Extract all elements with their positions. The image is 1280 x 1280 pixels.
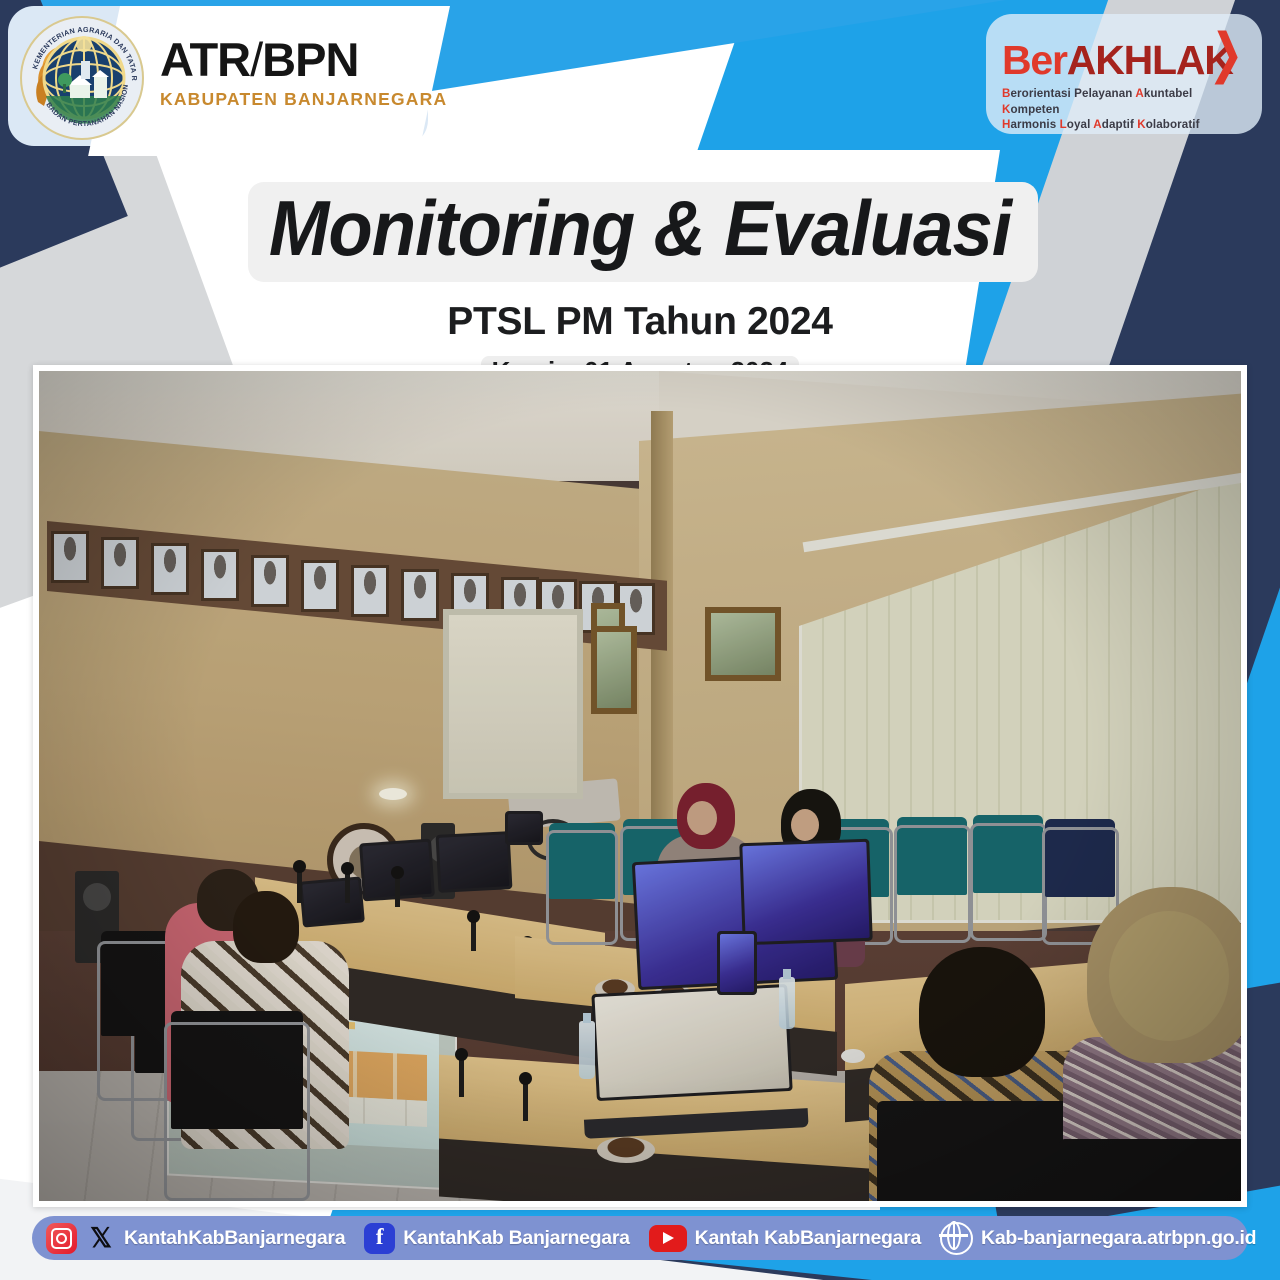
value-text-harmonis: armonis — [1010, 118, 1059, 131]
website-globe-icon[interactable] — [940, 1222, 973, 1255]
value-text-kompeten: ompeten — [1010, 103, 1059, 116]
desk-monitor-small — [505, 811, 543, 845]
wall-portrait — [251, 555, 289, 607]
x-twitter-icon[interactable]: 𝕏 — [86, 1223, 116, 1253]
atr-bpn-globe-emblem-icon: KEMENTERIAN AGRARIA DAN TATA RUANG BADAN… — [18, 14, 146, 142]
wall-portrait — [51, 531, 89, 583]
berakhlak-akhlak: AKHLAK — [1067, 37, 1233, 83]
agency-abbr-atr: ATR — [160, 33, 250, 86]
wall-portrait — [351, 565, 389, 617]
wall-portrait — [201, 549, 239, 601]
facebook-icon[interactable]: f — [364, 1223, 395, 1254]
value-text-kolaboratif: olaboratif — [1146, 118, 1200, 131]
poster-canvas: KEMENTERIAN AGRARIA DAN TATA RUANG BADAN… — [0, 0, 1280, 1280]
agency-abbr-bpn: BPN — [262, 33, 358, 86]
youtube-icon[interactable] — [649, 1225, 687, 1252]
page-subtitle: PTSL PM Tahun 2024 — [0, 300, 1280, 344]
desk-monitor-blue-2 — [739, 839, 872, 945]
value-text-loyal: oyal — [1067, 118, 1094, 131]
value-initial-l: L — [1060, 118, 1067, 131]
page-title: Monitoring & Evaluasi — [45, 186, 1235, 272]
value-text-adaptif: daptif — [1102, 118, 1137, 131]
desk-microphone-3 — [395, 875, 400, 907]
desk-microphone-4 — [471, 919, 476, 951]
value-initial-a2: A — [1093, 118, 1101, 131]
ceiling-light-icon — [379, 788, 407, 800]
water-bottle-2 — [579, 1021, 595, 1079]
x-handle: KantahKabBanjarnegara — [124, 1227, 345, 1250]
coffee-cup-3 — [597, 1137, 655, 1163]
agency-abbr-slash: / — [250, 33, 262, 86]
chair-left-3 — [171, 1011, 303, 1201]
desk-monitor-blue-3 — [717, 931, 757, 995]
wall-portrait — [151, 543, 189, 595]
value-initial-a: A — [1135, 87, 1143, 100]
value-text-berorientasi: erorientasi Pelayanan — [1010, 87, 1135, 100]
desk-microphone-6 — [459, 1057, 464, 1097]
chair-teal-4 — [897, 817, 967, 943]
wall-panel-board — [443, 609, 583, 799]
value-initial-k2: K — [1137, 118, 1145, 131]
chair-teal-1 — [549, 823, 615, 945]
website-url: Kab-banjarnegara.atrbpn.go.id — [981, 1227, 1256, 1250]
social-media-bar: 𝕏 KantahKabBanjarnegara f KantahKab Banj… — [32, 1216, 1248, 1260]
berakhlak-values-line2: Harmonis Loyal Adaptif Kolaboratif — [1002, 117, 1252, 133]
social-website[interactable]: Kab-banjarnegara.atrbpn.go.id — [940, 1222, 1256, 1255]
youtube-handle: Kantah KabBanjarnegara — [695, 1227, 921, 1250]
desk-monitor-2 — [436, 831, 513, 893]
wall-frame-tall — [591, 626, 637, 714]
event-photo — [39, 371, 1241, 1201]
chair-foreground-2 — [1059, 1139, 1241, 1201]
laptop-foreground — [591, 984, 794, 1138]
social-x[interactable]: 𝕏 KantahKabBanjarnegara — [86, 1223, 345, 1253]
event-photo-frame — [33, 365, 1247, 1207]
value-text-akuntabel: kuntabel — [1144, 87, 1192, 100]
chevron-right-icon: ❯ — [1209, 27, 1245, 81]
wall-portrait — [101, 537, 139, 589]
agency-abbr: ATR/BPN — [160, 36, 447, 83]
agency-region: KABUPATEN BANJARNEGARA — [160, 89, 447, 110]
social-facebook[interactable]: f KantahKab Banjarnegara — [364, 1223, 629, 1254]
water-bottle-1 — [779, 977, 795, 1029]
desk-microphone-7 — [523, 1081, 528, 1121]
instagram-icon[interactable] — [46, 1223, 77, 1254]
wall-photo-group — [705, 607, 781, 681]
facebook-handle: KantahKab Banjarnegara — [403, 1227, 629, 1250]
agency-brand-text: ATR/BPN KABUPATEN BANJARNEGARA — [160, 36, 447, 110]
berakhlak-wordmark: BerAKHLAK — [1002, 40, 1233, 81]
berakhlak-values-line1: Berorientasi Pelayanan Akuntabel Kompete… — [1002, 86, 1252, 117]
wall-portrait — [401, 569, 439, 621]
computer-mouse-icon — [841, 1049, 865, 1063]
berakhlak-values: Berorientasi Pelayanan Akuntabel Kompete… — [1002, 86, 1252, 133]
berakhlak-ber: Ber — [1002, 37, 1067, 83]
wall-portrait — [301, 560, 339, 612]
chair-teal-5 — [973, 815, 1043, 941]
social-youtube[interactable]: Kantah KabBanjarnegara — [649, 1225, 921, 1252]
social-instagram[interactable] — [46, 1223, 77, 1254]
berakhlak-card: BerAKHLAK ❯ Berorientasi Pelayanan Akunt… — [986, 14, 1262, 134]
